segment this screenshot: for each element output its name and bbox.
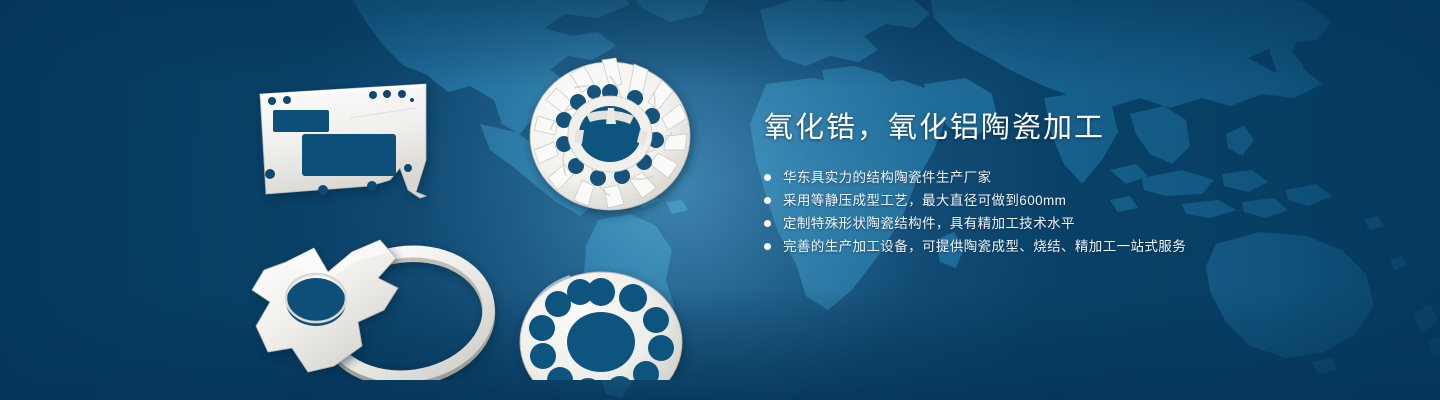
- bullet-dot-icon: [764, 174, 771, 181]
- bullet-text: 采用等静压成型工艺，最大直径可做到600mm: [783, 189, 1066, 212]
- list-item: 完善的生产加工设备，可提供陶瓷成型、烧结、精加工一站式服务: [764, 235, 1384, 258]
- list-item: 华东具实力的结构陶瓷件生产厂家: [764, 166, 1384, 189]
- ceramic-cross-part: [252, 240, 398, 372]
- bullet-dot-icon: [764, 220, 771, 227]
- copy-panel: 氧化锆，氧化铝陶瓷加工 华东具实力的结构陶瓷件生产厂家 采用等静压成型工艺，最大…: [764, 108, 1384, 258]
- ceramic-impeller: [530, 58, 690, 210]
- hero-banner: 氧化锆，氧化铝陶瓷加工 华东具实力的结构陶瓷件生产厂家 采用等静压成型工艺，最大…: [0, 0, 1440, 400]
- bullet-text: 定制特殊形状陶瓷结构件，具有精加工技术水平: [783, 212, 1075, 235]
- bullet-text: 完善的生产加工设备，可提供陶瓷成型、烧结、精加工一站式服务: [783, 235, 1186, 258]
- bullet-dot-icon: [764, 243, 771, 250]
- feature-bullet-list: 华东具实力的结构陶瓷件生产厂家 采用等静压成型工艺，最大直径可做到600mm 定…: [764, 166, 1384, 258]
- headline: 氧化锆，氧化铝陶瓷加工: [764, 108, 1384, 148]
- list-item: 采用等静压成型工艺，最大直径可做到600mm: [764, 189, 1384, 212]
- bullet-dot-icon: [764, 197, 771, 204]
- product-photo-cluster: [230, 40, 720, 380]
- ceramic-hole-disc: [520, 272, 682, 380]
- bullet-text: 华东具实力的结构陶瓷件生产厂家: [783, 166, 992, 189]
- list-item: 定制特殊形状陶瓷结构件，具有精加工技术水平: [764, 212, 1384, 235]
- ceramic-plate: [260, 84, 426, 198]
